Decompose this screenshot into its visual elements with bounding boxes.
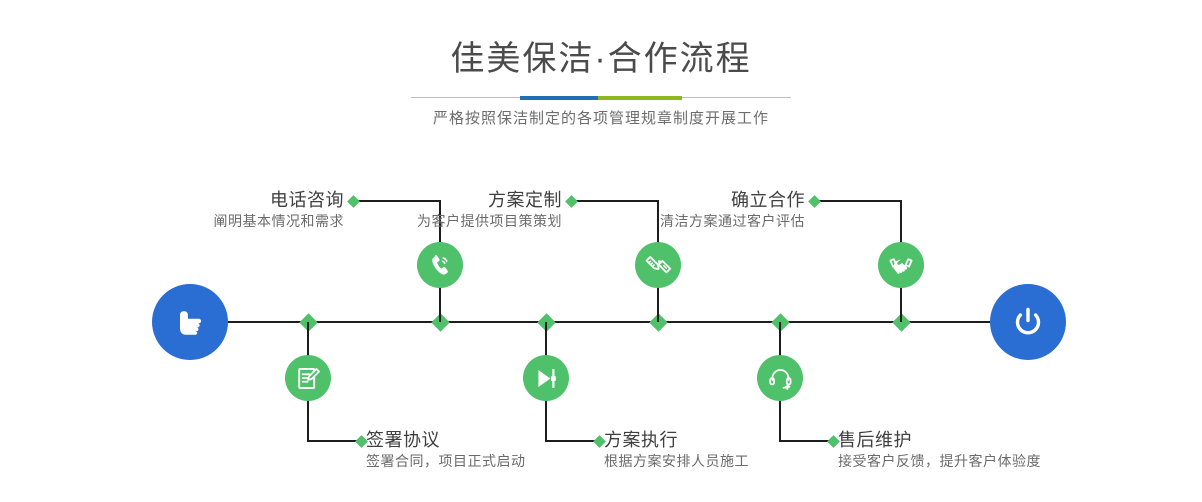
- step-title-5: 确立合作: [516, 189, 805, 211]
- divider-green-segment: [598, 96, 682, 100]
- process-flow-diagram: 佳美保洁·合作流程 严格按照保洁制定的各项管理规章制度开展工作: [0, 0, 1202, 502]
- power-icon: [1008, 302, 1048, 342]
- step-desc-6: 接受客户反馈，提升客户体验度: [838, 451, 1178, 471]
- page-title: 佳美保洁·合作流程: [0, 38, 1202, 80]
- handshake-icon: [887, 251, 915, 279]
- phone-call-icon: [426, 251, 454, 279]
- pencil-ruler-icon: [644, 251, 672, 279]
- page-subtitle: 严格按照保洁制定的各项管理规章制度开展工作: [0, 108, 1202, 130]
- title-divider: [411, 96, 791, 100]
- step-icon-2: [285, 355, 331, 401]
- step-icon-3: [635, 242, 681, 288]
- connector-elbow-step-5: [816, 200, 901, 202]
- label-bullet-step-5: [808, 195, 821, 208]
- end-node: [990, 284, 1066, 360]
- pointing-hand-icon: [170, 302, 210, 342]
- divider-blue-segment: [520, 96, 598, 100]
- step-label-6: 售后维护 接受客户反馈，提升客户体验度: [838, 429, 1178, 471]
- step-icon-1: [417, 242, 463, 288]
- document-edit-icon: [295, 365, 322, 392]
- step-title-6: 售后维护: [838, 429, 1178, 451]
- step-label-5: 确立合作 清洁方案通过客户评估: [516, 189, 805, 231]
- step-icon-5: [878, 242, 924, 288]
- play-skip-icon: [533, 365, 560, 392]
- step-desc-5: 清洁方案通过客户评估: [516, 211, 805, 231]
- start-node: [152, 284, 228, 360]
- customer-service-icon: [767, 365, 794, 392]
- step-icon-6: [757, 355, 803, 401]
- step-icon-4: [523, 355, 569, 401]
